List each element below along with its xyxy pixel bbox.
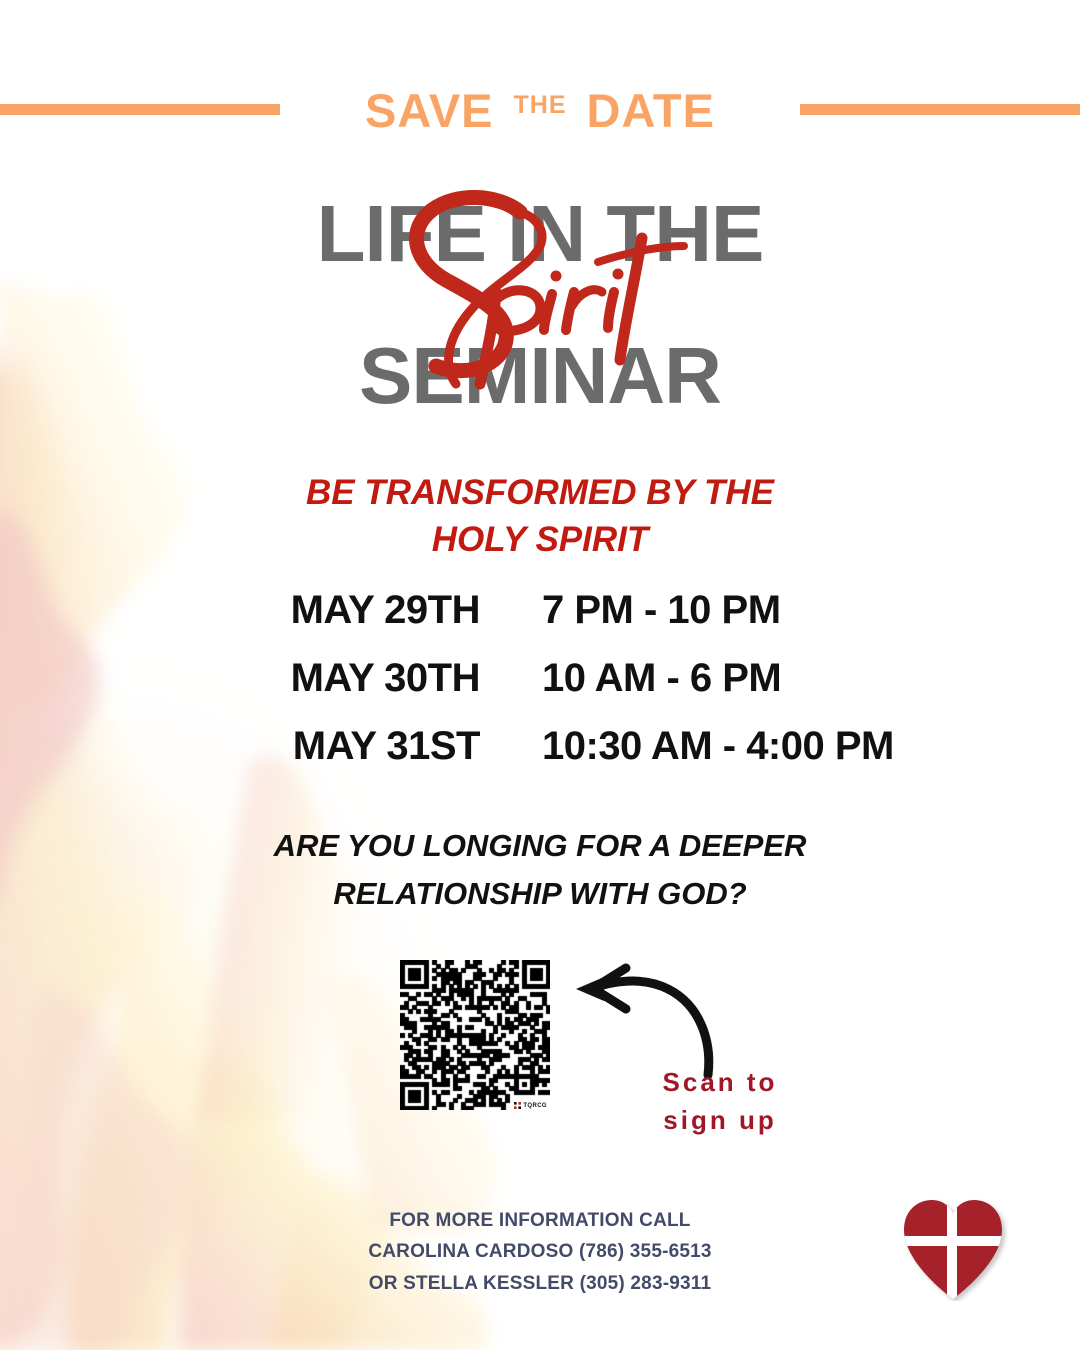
schedule-date: MAY 30TH [0,656,480,701]
title-line-two: SEMINAR [0,336,1080,416]
schedule-time: 7 PM - 10 PM [480,588,1080,633]
title-line-one: LIFE IN THE [0,194,1080,274]
footer-line-one: FOR MORE INFORMATION CALL [240,1205,840,1236]
schedule-date: MAY 29TH [0,588,480,633]
question-line-one: ARE YOU LONGING FOR A DEEPER [140,822,940,870]
header-rule-right-icon [800,104,1080,115]
save-the-date-header: SAVE THE DATE [0,70,1080,150]
schedule-row: MAY 31ST 10:30 AM - 4:00 PM [0,724,1080,792]
question-line-two: RELATIONSHIP WITH GOD? [140,870,940,918]
date-word: DATE [587,87,715,134]
schedule-row: MAY 30TH 10 AM - 6 PM [0,656,1080,724]
qr-watermark: TQRCG [512,1101,548,1109]
header-rule-left-icon [0,104,280,115]
qr-code-icon[interactable] [400,960,550,1110]
footer-line-two: CAROLINA CARDOSO (786) 355-6513 [240,1236,840,1267]
the-word: THE [514,93,567,118]
save-word: SAVE [365,87,494,134]
scan-to-sign-up-label: Scan to sign up [600,1064,840,1139]
schedule-time: 10:30 AM - 4:00 PM [480,724,1080,769]
scan-arrow [560,955,740,1080]
poster-canvas: SAVE THE DATE LIFE IN THE SEMINAR [0,0,1080,1350]
qr-watermark-mark-icon [514,1102,521,1109]
curved-arrow-left-icon [560,955,740,1080]
contact-footer: FOR MORE INFORMATION CALL CAROLINA CARDO… [240,1205,840,1299]
subtitle-line-one: BE TRANSFORMED BY THE [140,470,940,517]
schedule-row: MAY 29TH 7 PM - 10 PM [0,588,1080,656]
schedule-time: 10 AM - 6 PM [480,656,1080,701]
event-title-block: LIFE IN THE SEMINAR [0,188,1080,418]
signup-qr-code[interactable]: TQRCG [400,960,550,1110]
heart-cross-logo-icon [898,1196,1008,1301]
schedule-list: MAY 29TH 7 PM - 10 PM MAY 30TH 10 AM - 6… [0,588,1080,792]
scan-label-line-one: Scan to [600,1064,840,1102]
organization-logo [898,1196,1008,1301]
footer-line-three: OR STELLA KESSLER (305) 283-9311 [240,1268,840,1299]
subtitle-line-two: HOLY SPIRIT [140,517,940,564]
invitation-question: ARE YOU LONGING FOR A DEEPER RELATIONSHI… [140,822,940,918]
scan-label-line-two: sign up [600,1102,840,1140]
event-subtitle: BE TRANSFORMED BY THE HOLY SPIRIT [140,470,940,563]
qr-watermark-text: TQRCG [523,1103,547,1109]
schedule-date: MAY 31ST [0,724,480,769]
save-the-date-words: SAVE THE DATE [300,70,780,150]
